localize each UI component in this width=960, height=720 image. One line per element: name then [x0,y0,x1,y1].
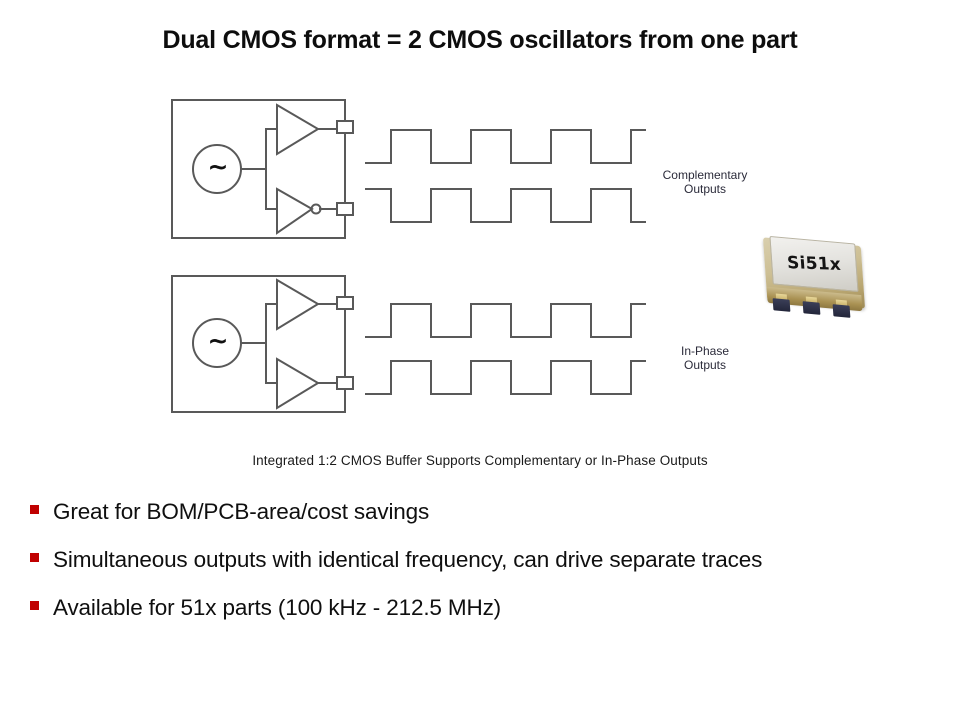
chip-pad-2 [803,301,821,315]
output-pad-bottom-1 [337,297,353,309]
waveform-inphase-a [366,304,645,337]
square-bullet-icon [30,505,39,514]
inphase-outputs-label-line2: Outputs [640,358,770,372]
non-inverting-buffer-bottom-2 [277,359,318,408]
output-pad-top-2 [337,203,353,215]
inphase-outputs-label-line1: In-Phase [640,344,770,358]
complementary-outputs-label-line1: Complementary [640,168,770,182]
figure-caption: Integrated 1:2 CMOS Buffer Supports Comp… [0,453,960,468]
bullet-text: Available for 51x parts (100 kHz - 212.5… [53,592,930,623]
complementary-outputs-label-line2: Outputs [640,182,770,196]
chip-pad-1 [773,298,791,312]
list-item: Great for BOM/PCB-area/cost savings [30,496,930,527]
oscillator-symbol-top: ~ [205,152,231,181]
square-bullet-icon [30,601,39,610]
output-pad-top-1 [337,121,353,133]
square-bullet-icon [30,553,39,562]
list-item: Available for 51x parts (100 kHz - 212.5… [30,592,930,623]
chip-package-image: Si51x [757,236,877,326]
oscillator-symbol-bottom: ~ [205,326,231,355]
output-pad-bottom-2 [337,377,353,389]
bullet-list: Great for BOM/PCB-area/cost savings Simu… [30,496,930,640]
waveform-inphase-b [366,361,645,394]
non-inverting-buffer-bottom-1 [277,280,318,329]
chip-pad-3 [833,304,851,318]
waveform-complementary-b [366,189,645,222]
non-inverting-buffer-top-1 [277,105,318,154]
block-diagram-svg [0,0,960,470]
chip-part-marking: Si51x [786,253,841,275]
block-diagram-figure: Complementary Outputs In-Phase Outputs S… [0,0,960,490]
inverting-buffer-top-2 [277,189,312,233]
waveform-complementary-a [366,130,645,163]
chip-lid: Si51x [769,236,858,292]
bullet-text: Great for BOM/PCB-area/cost savings [53,496,930,527]
bullet-text: Simultaneous outputs with identical freq… [53,544,930,575]
inphase-outputs-label: In-Phase Outputs [640,344,770,372]
list-item: Simultaneous outputs with identical freq… [30,544,930,575]
complementary-outputs-label: Complementary Outputs [640,168,770,196]
